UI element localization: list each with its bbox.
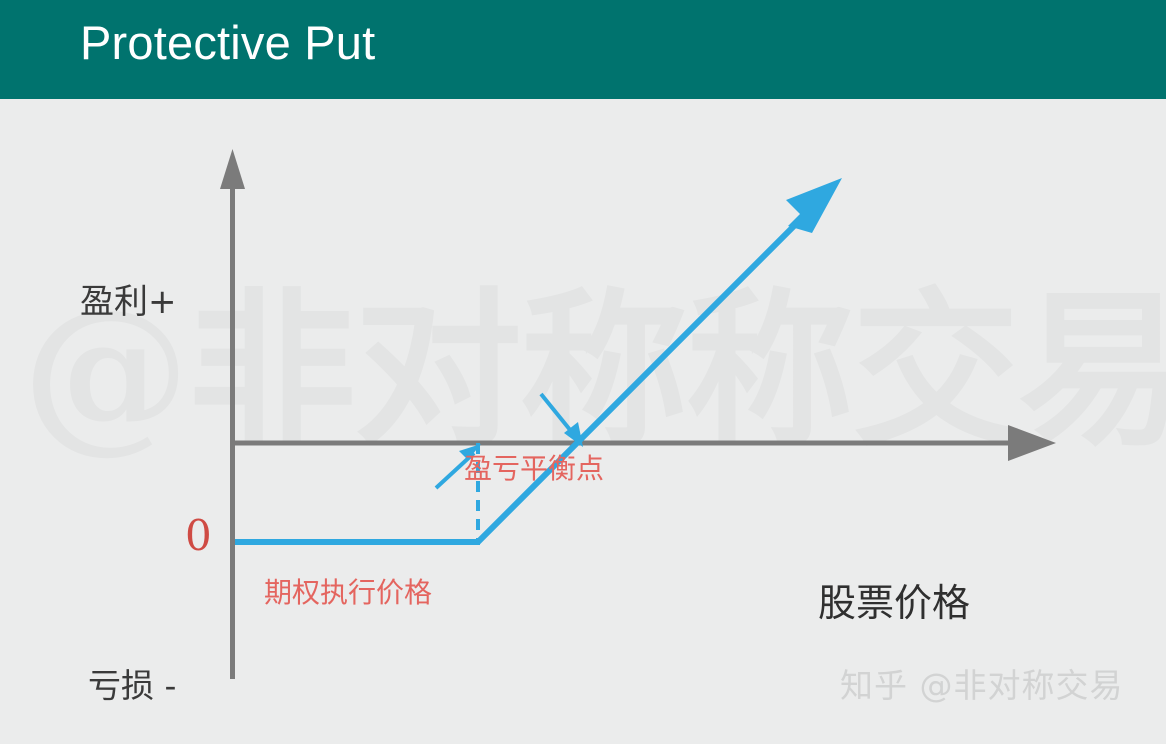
header-bar: Protective Put <box>0 0 1166 99</box>
origin-zero-label: 0 <box>185 515 212 557</box>
payoff-line-arrow-icon <box>786 178 842 233</box>
x-axis-label: 股票价格 <box>818 584 970 622</box>
strike-price-annotation-label: 期权执行价格 <box>264 579 432 607</box>
slide-canvas: Protective Put @非对称称交易 <box>0 0 1166 744</box>
payoff-line <box>235 220 800 542</box>
author-signature: 知乎 @非对称交易 <box>840 669 1124 702</box>
x-axis-arrow-icon <box>1008 425 1056 461</box>
y-axis-arrow-icon <box>220 149 245 189</box>
payoff-diagram: 盈利+ 亏损 - 股票价格 0 期权执行价格 盈亏平衡点 <box>0 99 1166 744</box>
y-axis-top-label: 盈利+ <box>80 285 177 319</box>
breakeven-annotation-label: 盈亏平衡点 <box>464 455 604 483</box>
y-axis-bottom-label: 亏损 - <box>88 669 176 702</box>
payoff-chart-svg <box>0 99 1166 744</box>
page-title: Protective Put <box>80 16 375 70</box>
